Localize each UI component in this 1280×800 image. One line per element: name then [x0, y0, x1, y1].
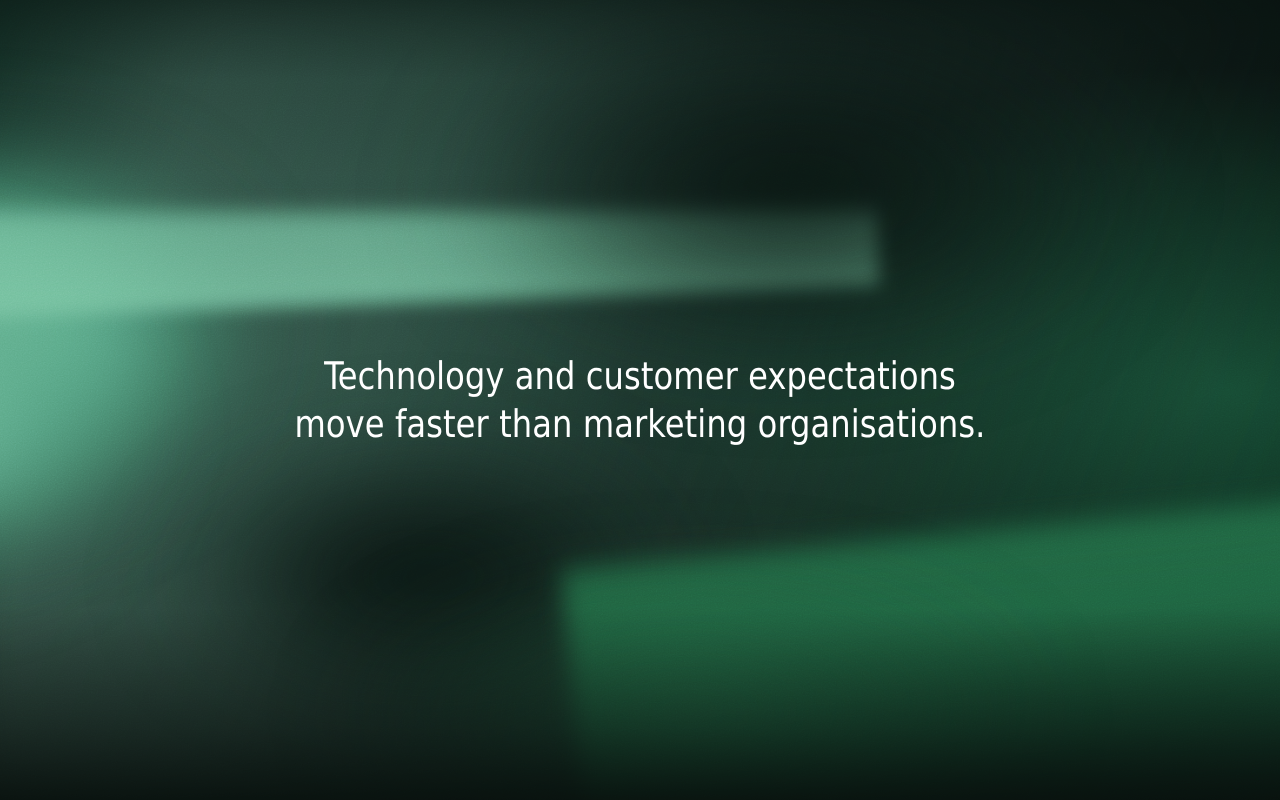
quote-line-2: move faster than marketing organisations… [38, 400, 1241, 448]
quote-line-1: Technology and customer expectations [38, 352, 1241, 400]
quote-caption: Technology and customer expectations mov… [0, 352, 1280, 448]
background-dark-core-upper-middle [430, 0, 1150, 370]
slide-canvas: Technology and customer expectations mov… [0, 0, 1280, 800]
